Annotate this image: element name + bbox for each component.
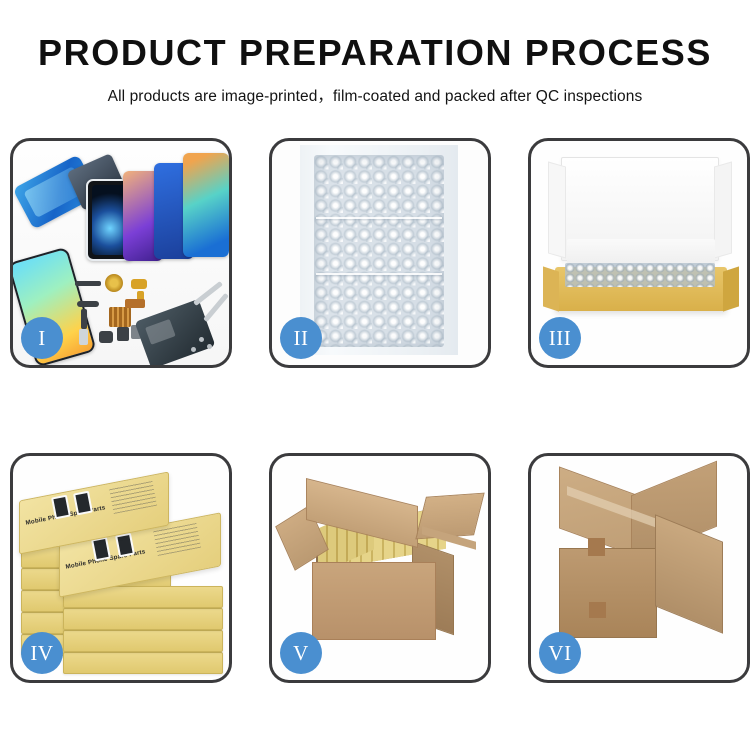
product-preparation-page: PRODUCT PREPARATION PROCESS All products… xyxy=(0,0,750,750)
earpiece-mesh-icon xyxy=(75,281,101,286)
step-panel-2[interactable]: II xyxy=(269,138,491,368)
bracket-icon xyxy=(77,301,99,307)
sim-tray-icon xyxy=(79,329,88,345)
step-panel-5[interactable]: V xyxy=(269,453,491,683)
retail-box-edge xyxy=(63,630,223,652)
carton-hand-hole-icon xyxy=(588,538,605,556)
phone-housing-icon xyxy=(134,299,215,365)
antenna-flex-icon xyxy=(125,299,145,308)
step-badge-5: V xyxy=(280,632,322,674)
step-panel-1[interactable]: I xyxy=(10,138,232,368)
logic-chip-icon xyxy=(109,307,131,327)
lid-right-flap-icon xyxy=(714,161,732,258)
retail-box-edge xyxy=(63,608,223,630)
wrap-seam-icon xyxy=(316,217,442,219)
step-panel-3[interactable]: III xyxy=(528,138,750,368)
vibrator-icon xyxy=(99,331,113,343)
step-badge-1: I xyxy=(21,317,63,359)
step-badge-6: VI xyxy=(539,632,581,674)
retail-box-edge xyxy=(63,652,223,674)
wrap-seam-icon xyxy=(316,273,442,275)
lid-left-flap-icon xyxy=(548,161,566,258)
step-badge-4: IV xyxy=(21,632,63,674)
flex-cable-icon xyxy=(131,279,147,289)
step-badge-2: II xyxy=(280,317,322,359)
page-subtitle: All products are image-printed，film-coat… xyxy=(0,84,750,106)
step-panel-4[interactable]: Mobile Phone Spare Parts Mobile Phone Sp… xyxy=(10,453,232,683)
step-badge-3: III xyxy=(539,317,581,359)
screw-icon xyxy=(191,347,196,352)
carton-seam-tab-icon xyxy=(589,602,606,618)
process-steps-grid: I II III xyxy=(10,138,740,683)
speaker-coil-icon xyxy=(105,274,123,292)
sealed-carton-side-icon xyxy=(655,514,723,633)
camera-module-icon xyxy=(117,327,129,341)
bubble-wrap-bubbles-icon xyxy=(314,155,444,347)
page-header: PRODUCT PREPARATION PROCESS All products… xyxy=(0,0,750,106)
ribbon-cable-icon xyxy=(81,309,87,329)
step-panel-6[interactable]: VI xyxy=(528,453,750,683)
page-title: PRODUCT PREPARATION PROCESS xyxy=(0,34,750,72)
screw-icon xyxy=(199,337,204,342)
wrapped-product-in-box-icon xyxy=(565,263,715,287)
sealed-carton-front-icon xyxy=(559,548,657,638)
phone-screen-gradient-icon xyxy=(183,153,229,257)
screw-icon xyxy=(207,344,212,349)
carton-front-icon xyxy=(312,562,436,640)
